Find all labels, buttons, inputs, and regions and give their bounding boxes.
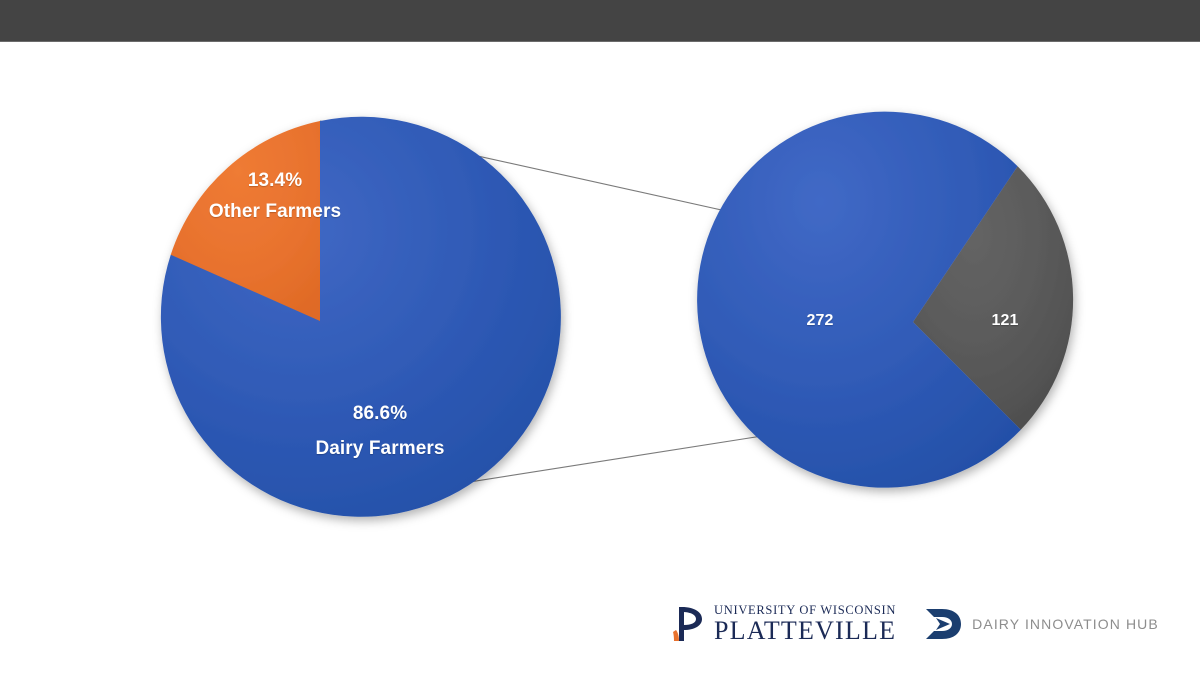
dih-wordmark: DAIRY INNOVATION HUB	[972, 616, 1159, 632]
uw-platteville-logo: UNIVERSITY OF WISCONSIN PLATTEVILLE	[672, 604, 896, 644]
uwp-platteville-line: PLATTEVILLE	[714, 618, 896, 644]
footer-logo-row: UNIVERSITY OF WISCONSIN PLATTEVILLE DAIR…	[672, 598, 1132, 650]
slide-canvas: 13.4% Other Farmers 86.6% Dairy Farmers …	[0, 0, 1200, 674]
uwp-university-line: UNIVERSITY OF WISCONSIN	[714, 604, 896, 617]
left-pie-chart	[161, 117, 561, 517]
pie-charts-graphic	[0, 0, 1200, 674]
uwp-wordmark: UNIVERSITY OF WISCONSIN PLATTEVILLE	[714, 604, 896, 644]
d-arrow-icon	[922, 605, 964, 643]
right-pie-chart	[697, 112, 1073, 488]
dairy-innovation-hub-logo: DAIRY INNOVATION HUB	[922, 605, 1159, 643]
p-monogram-icon	[672, 604, 706, 644]
